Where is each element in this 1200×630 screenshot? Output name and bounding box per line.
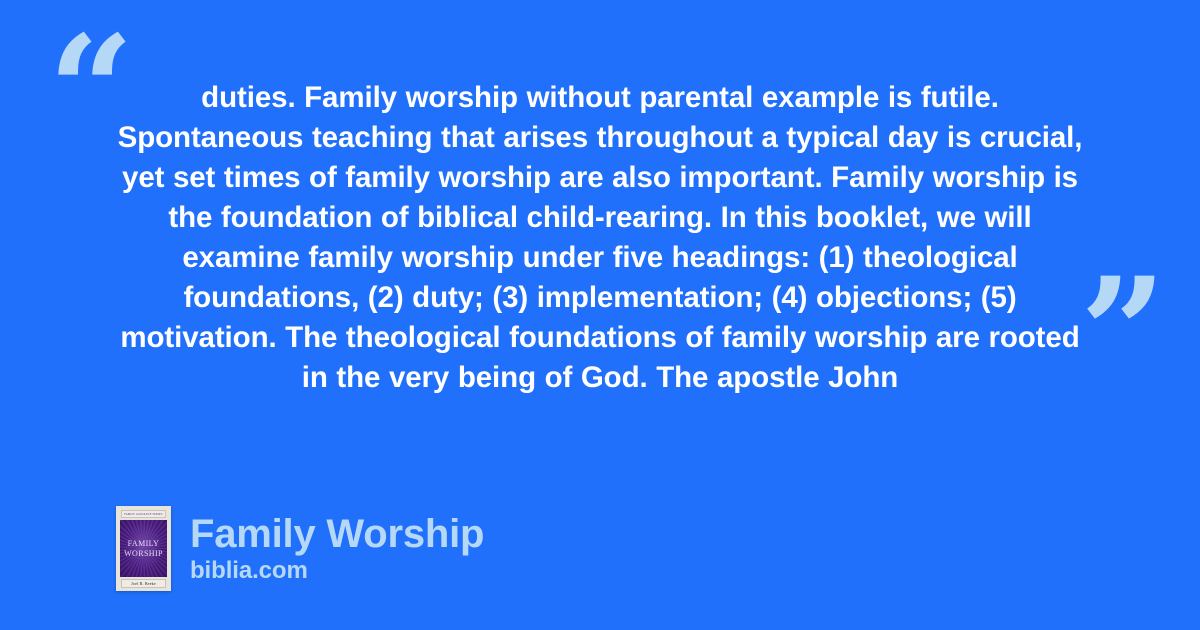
book-cover-artwork: FAMILY WORSHIP: [120, 520, 167, 577]
quote-card: “ duties. Family worship without parenta…: [0, 0, 1200, 630]
book-cover-title-line-1: FAMILY: [128, 539, 160, 548]
book-cover-thumbnail: FAMILY GUIDANCE SERIES FAMILY WORSHIP Jo…: [116, 506, 171, 591]
book-author-banner: Joel R. Beeke: [121, 579, 166, 588]
book-author-label: Joel R. Beeke: [131, 581, 156, 586]
source-title: Family Worship: [190, 511, 484, 557]
close-quote-icon: ”: [1080, 258, 1166, 408]
quote-text-block: duties. Family worship without parental …: [112, 78, 1088, 398]
quote-text: duties. Family worship without parental …: [112, 78, 1088, 398]
attribution-labels: Family Worship biblia.com: [190, 511, 484, 586]
book-cover-title: FAMILY WORSHIP: [120, 520, 167, 577]
attribution: FAMILY GUIDANCE SERIES FAMILY WORSHIP Jo…: [116, 506, 484, 591]
book-cover-title-line-2: WORSHIP: [124, 549, 163, 558]
book-series-label: FAMILY GUIDANCE SERIES: [124, 513, 162, 516]
source-url[interactable]: biblia.com: [190, 556, 484, 586]
book-series-banner: FAMILY GUIDANCE SERIES: [121, 510, 166, 518]
